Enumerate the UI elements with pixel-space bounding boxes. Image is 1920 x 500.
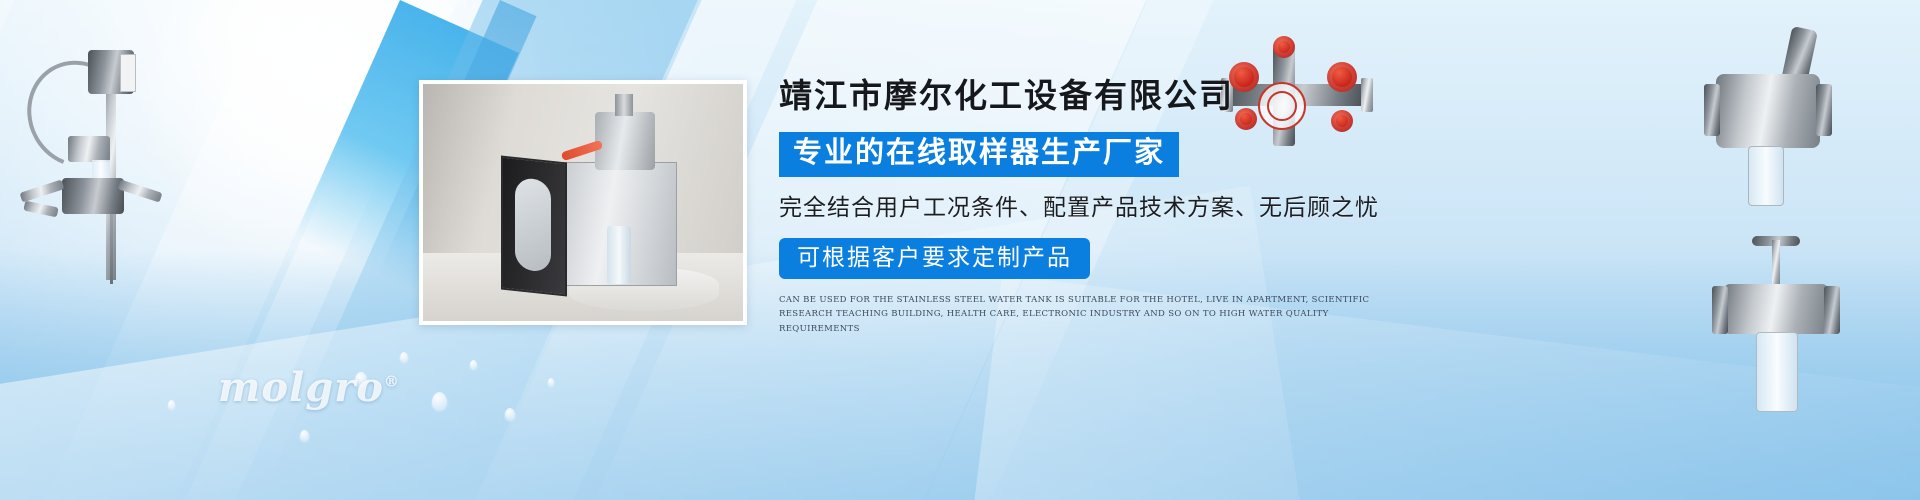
gauge-window	[120, 54, 136, 92]
equipment-sight-glass-valve	[1700, 240, 1860, 460]
equipment-left-assembly	[10, 28, 180, 308]
red-handwheel	[1273, 36, 1295, 58]
water-droplet	[400, 352, 408, 362]
flange	[1824, 286, 1840, 334]
sample-bottle	[607, 226, 631, 284]
water-droplet	[505, 408, 515, 420]
valve-body	[1724, 284, 1828, 334]
english-caption: CAN BE USED FOR THE STAINLESS STEEL WATE…	[779, 293, 1389, 338]
equipment-lever-valve	[1700, 28, 1850, 213]
side-arm	[23, 201, 58, 218]
sub-headline: 完全结合用户工况条件、配置产品技术方案、无后顾之忧	[779, 195, 1419, 220]
side-arm	[20, 179, 65, 202]
valve-block-lower	[62, 178, 124, 214]
valve-stem	[1772, 240, 1780, 286]
watermark-text: molgro	[218, 364, 384, 411]
product-photo	[419, 80, 747, 325]
water-droplet	[168, 400, 175, 409]
promo-banner: 靖江市摩尔化工设备有限公司 专业的在线取样器生产厂家 完全结合用户工况条件、配置…	[0, 0, 1920, 500]
water-droplet	[470, 360, 477, 369]
water-droplet	[432, 392, 447, 410]
sampling-needle	[110, 214, 113, 284]
flange	[1704, 84, 1720, 136]
flange	[1816, 84, 1832, 136]
valve-body	[1716, 74, 1820, 148]
side-arm	[118, 179, 163, 202]
company-title: 靖江市摩尔化工设备有限公司	[779, 78, 1419, 114]
cabinet-door-window	[515, 177, 551, 273]
registered-mark-icon: ®	[384, 373, 400, 391]
water-droplet	[548, 378, 554, 386]
sampler-valve-stem	[615, 94, 633, 116]
sampler-valve-head	[595, 112, 655, 170]
headline-highlight: 专业的在线取样器生产厂家	[779, 132, 1179, 177]
cta-pill[interactable]: 可根据客户要求定制产品	[779, 238, 1090, 279]
flange	[1712, 286, 1728, 334]
sight-glass	[1756, 332, 1798, 412]
cabinet-door	[501, 156, 567, 297]
water-droplet	[300, 430, 309, 441]
brand-watermark: molgro®	[218, 364, 400, 411]
sight-glass	[1748, 146, 1784, 206]
valve-block-upper	[68, 136, 110, 162]
banner-text-block: 靖江市摩尔化工设备有限公司 专业的在线取样器生产厂家 完全结合用户工况条件、配置…	[779, 78, 1419, 337]
product-photo-image	[423, 84, 743, 321]
